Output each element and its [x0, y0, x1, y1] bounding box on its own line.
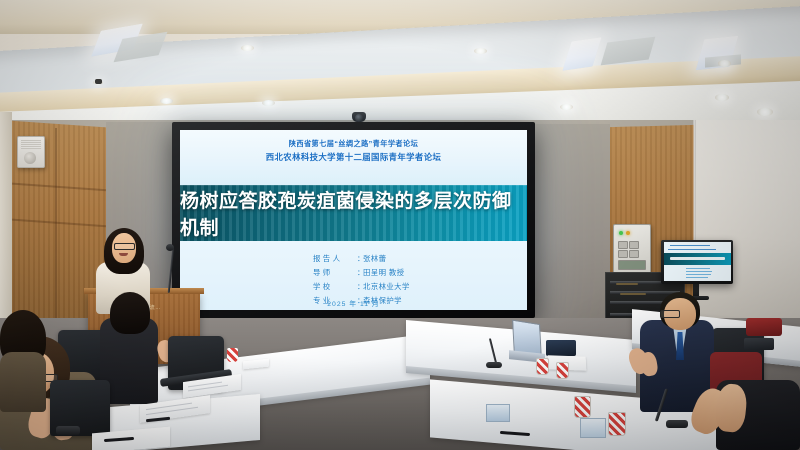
- monitor-header-line-2: [668, 249, 716, 250]
- audience-left-3-body: [0, 352, 46, 412]
- monitor-info-line-2: [686, 271, 712, 272]
- red-bag: [746, 318, 782, 336]
- meta-value-school: 北京林业大学: [363, 283, 410, 290]
- slide-title: 杨树应答胶孢炭疽菌侵染的多层次防御机制: [180, 185, 527, 241]
- av-control-panel[interactable]: [613, 224, 651, 274]
- monitor-info-line-3: [686, 274, 711, 275]
- control-button-2[interactable]: [629, 241, 639, 249]
- projection-screen[interactable]: 陕西省第七届“丝绸之路”青年学者论坛 西北农林科技大学第十二届国际青年学者论坛 …: [180, 130, 527, 310]
- monitor-title-line: [670, 257, 725, 260]
- meta-label-school: 学校: [313, 283, 357, 290]
- podium-microphone-head: [166, 244, 174, 251]
- meta-row-school: 学校 ： 北京林业大学: [313, 283, 410, 290]
- ceiling-downlight-2: [474, 48, 487, 54]
- control-display: [618, 260, 646, 270]
- nameplate-foreground: [486, 404, 510, 422]
- device-on-right-table: [744, 338, 774, 350]
- meta-label-advisor: 导师: [313, 269, 357, 276]
- ceiling-downlight-5: [262, 100, 275, 106]
- monitor-info-line-1: [686, 268, 710, 269]
- cup-foreground-right-2: [608, 412, 626, 436]
- ceiling-downlight-1: [241, 45, 254, 51]
- rack-cable-2: [620, 293, 646, 295]
- ceiling-camera-dome: [95, 79, 102, 84]
- slide-title-band: 杨树应答胶孢炭疽菌侵染的多层次防御机制: [180, 185, 527, 241]
- conference-room-photo: 陕西省第七届“丝绸之路”青年学者论坛 西北农林科技大学第十二届国际青年学者论坛 …: [0, 0, 800, 450]
- confidence-monitor-screen[interactable]: [664, 242, 731, 281]
- cup-back-left: [227, 348, 238, 362]
- presenter-glasses: [114, 243, 135, 250]
- laptop-dark-device: [546, 340, 576, 356]
- microphone-base-foreground-left: [56, 426, 80, 435]
- left-column: [0, 112, 12, 342]
- ceiling: [0, 0, 800, 132]
- meta-value-advisor: 田呈明 教授: [363, 269, 404, 276]
- microphone-base-center: [486, 362, 502, 368]
- monitor-slide-info: [664, 265, 731, 281]
- control-button-1[interactable]: [618, 241, 628, 249]
- monitor-info-line-4: [686, 277, 708, 278]
- ceiling-downlight-4: [160, 98, 173, 104]
- wood-seam-3: [55, 128, 57, 328]
- ceiling-camera-lens: [355, 114, 363, 122]
- monitor-header-line-1: [670, 245, 710, 246]
- control-button-4[interactable]: [629, 250, 639, 258]
- meta-row-advisor: 导师 ： 田呈明 教授: [313, 269, 410, 276]
- slide-date: 2025 年 11 月: [180, 298, 527, 308]
- control-button-3[interactable]: [618, 250, 628, 258]
- nameplate-foreground-2: [580, 418, 606, 438]
- audience-left-1-hair: [110, 292, 150, 334]
- ceiling-downlight-8: [757, 108, 773, 116]
- speaker-cone: [24, 152, 36, 164]
- rack-cable-1: [616, 283, 638, 285]
- ceiling-downlight-3: [718, 60, 731, 67]
- wall-speaker: [17, 136, 45, 168]
- slide-header-line-2: 西北农林科技大学第十二届国际青年学者论坛: [180, 151, 527, 163]
- monitor-slide-header: [664, 242, 731, 253]
- cup-center-1: [536, 358, 549, 375]
- slide-info-area: 报告人 ： 张林蕾 导师 ： 田呈明 教授 学校 ： 北京林业大学 专业 ：: [180, 241, 527, 310]
- ceiling-downlight-7: [715, 94, 729, 101]
- ceiling-downlight-6: [560, 104, 573, 110]
- control-led-amber: [626, 231, 630, 235]
- audience-right-1-glasses: [660, 310, 680, 318]
- microphone-base-foreground: [666, 420, 688, 428]
- speaker-grill: [21, 140, 41, 149]
- slide-header-line-1: 陕西省第七届“丝绸之路”青年学者论坛: [180, 139, 527, 149]
- slide-header-area: 陕西省第七届“丝绸之路”青年学者论坛 西北农林科技大学第十二届国际青年学者论坛: [180, 130, 527, 185]
- meta-row-presenter: 报告人 ： 张林蕾: [313, 255, 410, 262]
- back-wall-panel-center: [530, 124, 610, 319]
- meta-label-presenter: 报告人: [313, 255, 357, 262]
- control-led-green: [619, 231, 623, 235]
- cup-center-2: [556, 362, 569, 379]
- meta-value-presenter: 张林蕾: [363, 255, 386, 262]
- right-white-wall: [694, 120, 800, 330]
- cup-foreground-right-1: [574, 396, 591, 418]
- monitor-slide-band: [664, 253, 731, 265]
